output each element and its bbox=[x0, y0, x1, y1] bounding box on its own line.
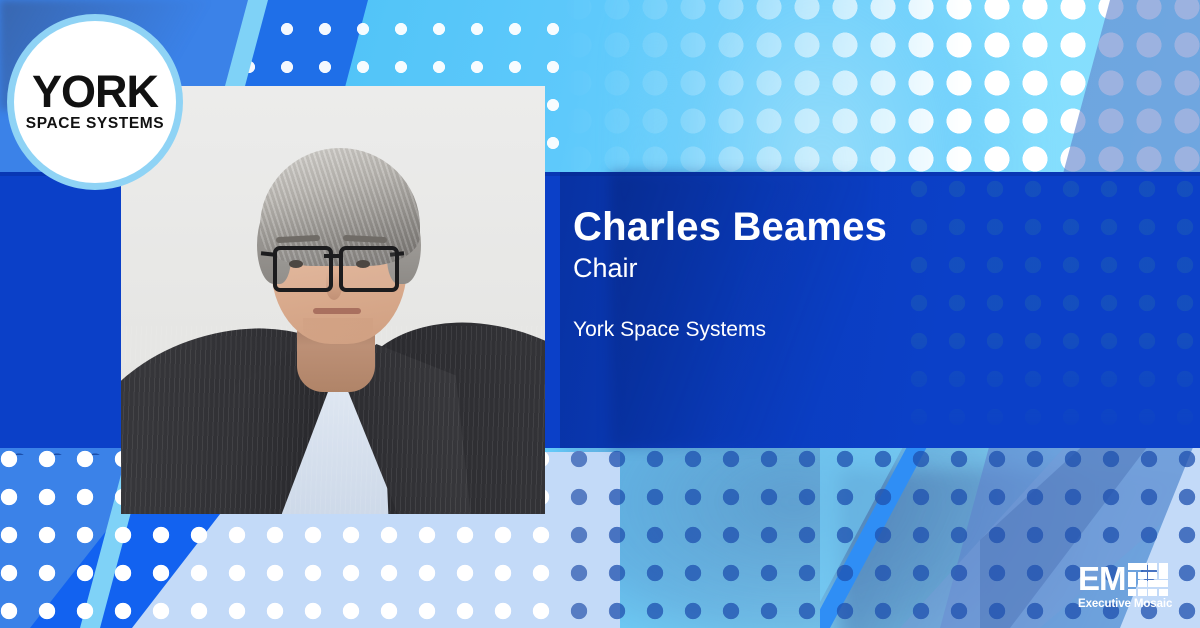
em-logo-name: Executive Mosaic bbox=[1078, 598, 1186, 610]
em-grid-cell bbox=[1138, 580, 1147, 587]
york-logo-wordmark: YORK bbox=[32, 71, 158, 114]
em-grid-cell bbox=[1159, 563, 1168, 579]
person-title: Chair bbox=[573, 253, 1133, 284]
york-space-systems-logo[interactable]: YORK SPACE SYSTEMS bbox=[14, 21, 176, 183]
person-name: Charles Beames bbox=[573, 206, 1133, 249]
em-grid-cell bbox=[1138, 572, 1147, 579]
em-logo-initials: EM bbox=[1078, 563, 1126, 595]
promo-card: YORK SPACE SYSTEMS Charles Beames Chair … bbox=[0, 0, 1200, 628]
person-info-block: Charles Beames Chair York Space Systems bbox=[573, 206, 1133, 342]
glasses-lens-left bbox=[273, 246, 333, 292]
em-logo-row: EM bbox=[1078, 563, 1186, 597]
portrait-mouth bbox=[313, 308, 361, 314]
em-grid-cell bbox=[1148, 589, 1157, 596]
em-grid-cell bbox=[1148, 563, 1157, 570]
york-logo-subtitle: SPACE SYSTEMS bbox=[26, 115, 164, 133]
portrait-photo bbox=[121, 86, 545, 514]
glasses-bridge bbox=[324, 254, 340, 258]
em-grid-cell bbox=[1148, 572, 1157, 579]
person-organization: York Space Systems bbox=[573, 318, 1133, 342]
em-mosaic-grid-icon bbox=[1128, 563, 1168, 596]
em-grid-cell bbox=[1128, 589, 1137, 596]
em-grid-cell bbox=[1148, 580, 1167, 587]
glasses-lens-right bbox=[339, 246, 399, 292]
em-grid-cell bbox=[1128, 572, 1137, 588]
em-grid-cell bbox=[1159, 589, 1168, 596]
em-grid-cell bbox=[1128, 563, 1147, 570]
portrait-chin bbox=[303, 318, 373, 342]
executive-mosaic-logo[interactable]: EM Executive Mosaic bbox=[1078, 563, 1186, 613]
em-grid-cell bbox=[1138, 589, 1147, 596]
